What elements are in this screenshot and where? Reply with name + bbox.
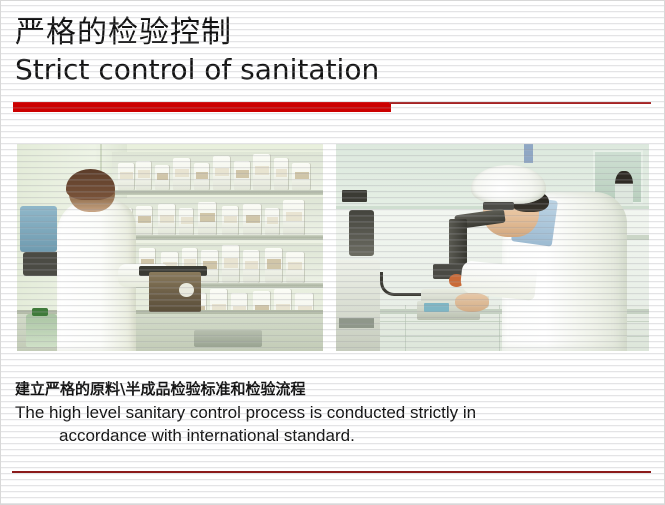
sample-jar xyxy=(136,206,153,235)
sample-jar xyxy=(173,158,191,189)
photo-left-scene xyxy=(17,144,323,351)
sample-jar xyxy=(136,161,151,190)
sample-jar xyxy=(155,165,170,190)
sample-jar xyxy=(274,158,289,189)
microscope-tube xyxy=(449,219,468,269)
bench-instrument xyxy=(336,260,380,351)
technician-hairnet xyxy=(471,165,546,204)
ceiling-pipe xyxy=(524,144,533,163)
bottom-accent-line xyxy=(12,471,651,473)
caption-english-line-1: The high level sanitary control process … xyxy=(15,401,645,424)
caption-english-line-2: accordance with international standard. xyxy=(15,424,645,447)
caption-block: 建立严格的原料\半成品检验标准和检验流程 The high level sani… xyxy=(15,379,645,447)
title-accent-bar xyxy=(13,102,391,112)
sample-jar xyxy=(179,208,194,235)
large-water-bottle xyxy=(26,314,57,347)
caption-chinese: 建立严格的原料\半成品检验标准和检验流程 xyxy=(15,379,645,399)
sample-jar xyxy=(198,202,218,235)
bottle-cap xyxy=(32,308,47,316)
sample-jar xyxy=(222,245,240,282)
technician-hand xyxy=(455,293,489,312)
sample-jar xyxy=(283,200,304,235)
person-behind-window xyxy=(615,171,634,204)
page-title-english: Strict control of sanitation xyxy=(15,53,635,87)
photo-microscope-inspection xyxy=(336,144,649,351)
sample-jar xyxy=(292,163,310,190)
page-title-chinese: 严格的检验控制 xyxy=(15,15,635,51)
title-accent-line xyxy=(389,102,651,104)
shelf-rail-2 xyxy=(112,235,323,240)
sample-jar xyxy=(158,204,176,235)
shelf-rail-1 xyxy=(112,190,323,195)
instrument-display xyxy=(424,303,449,311)
sample-jar xyxy=(243,250,260,283)
sample-jar xyxy=(243,204,261,235)
lab-equipment-blue xyxy=(20,206,57,252)
sample-jar xyxy=(194,163,209,190)
sample-jar xyxy=(265,248,283,283)
instrument-slot xyxy=(339,318,373,328)
sample-jar xyxy=(234,161,251,190)
sample-jar xyxy=(265,208,280,235)
sample-jar xyxy=(253,154,271,189)
metal-tray xyxy=(194,330,261,347)
bench-lamp xyxy=(349,210,374,256)
sample-jar xyxy=(222,206,239,235)
wall-socket xyxy=(342,190,367,202)
sample-jar xyxy=(213,156,231,189)
presentation-slide: 严格的检验控制 Strict control of sanitation xyxy=(0,0,665,505)
title-block: 严格的检验控制 Strict control of sanitation xyxy=(15,15,635,87)
sample-jar xyxy=(118,163,135,190)
photo-laboratory-storage-inspection xyxy=(17,144,323,351)
photo-right-scene xyxy=(336,144,649,351)
sample-jar xyxy=(286,252,304,283)
